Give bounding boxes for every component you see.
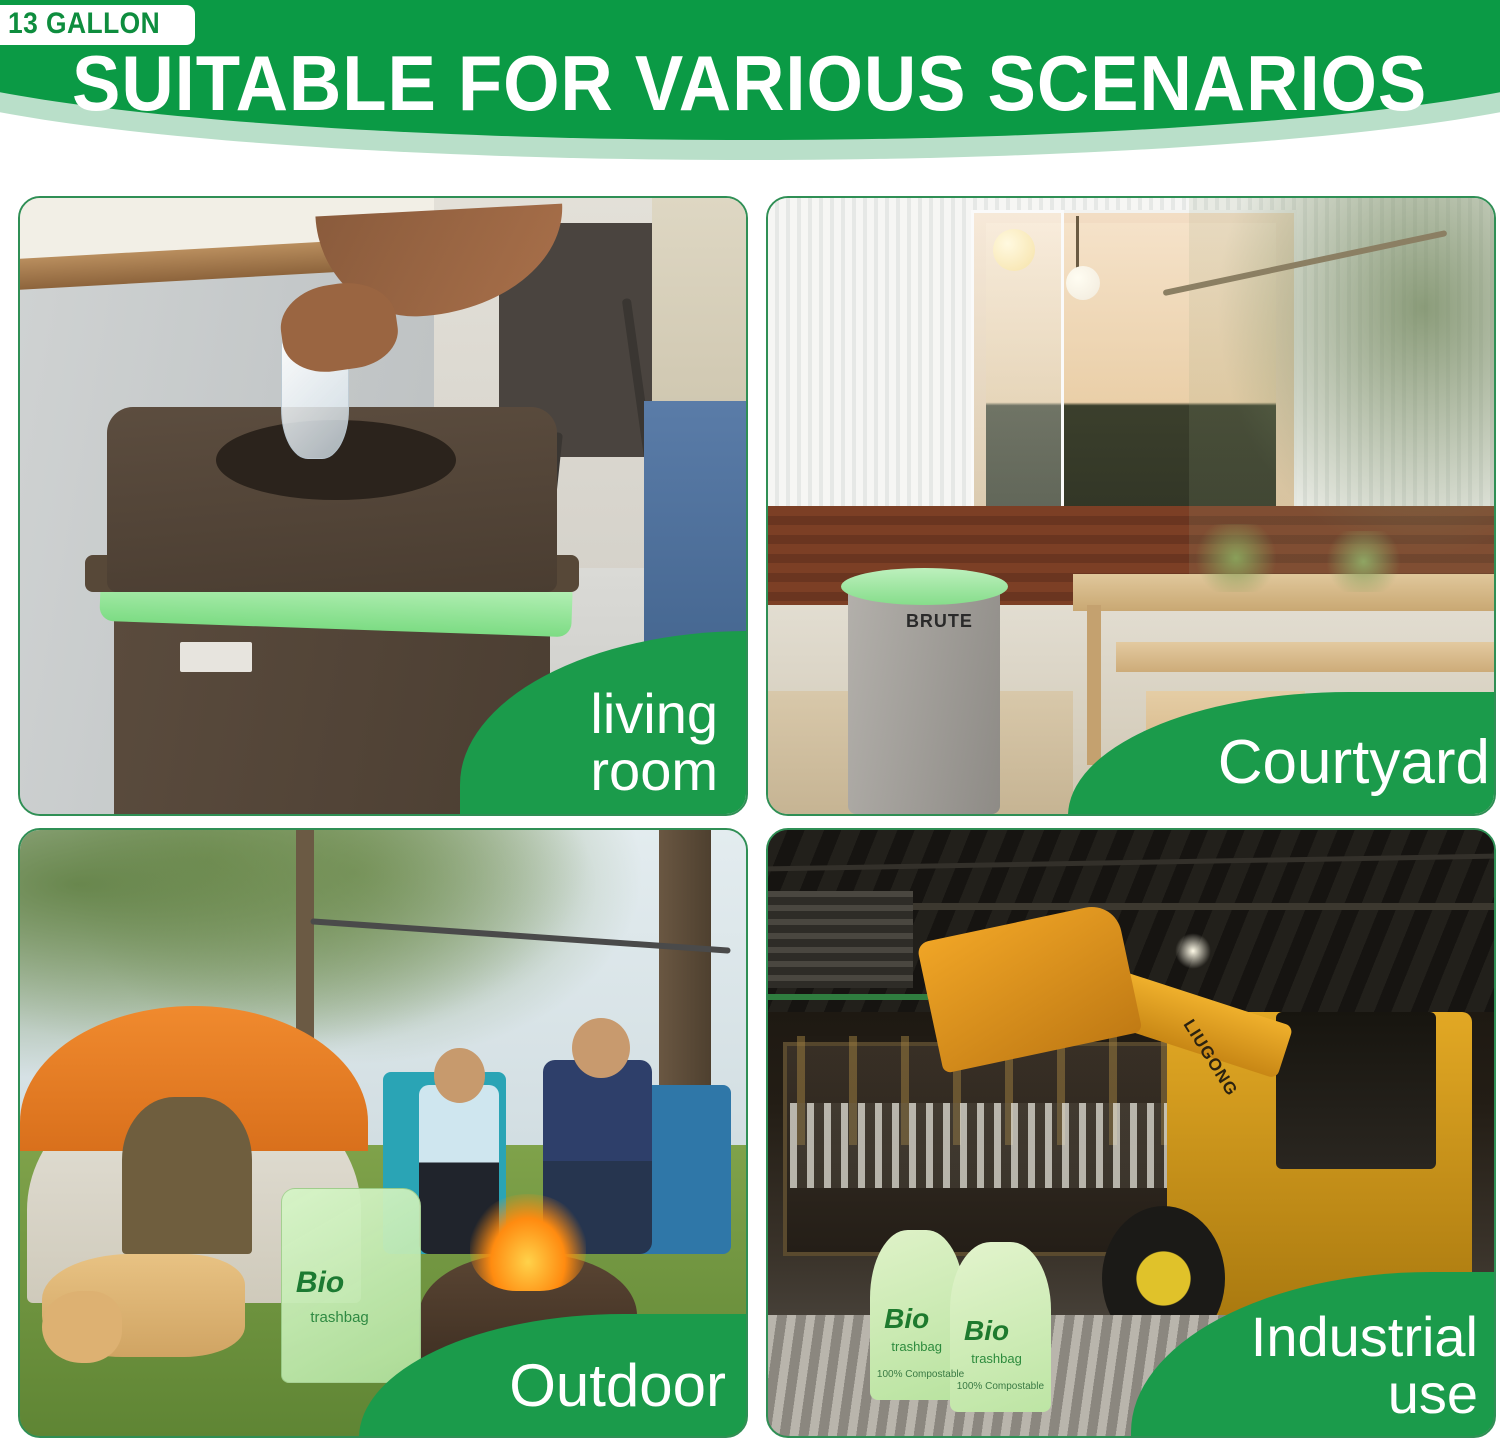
bio-brand-subtitle: trashbag — [971, 1351, 1022, 1366]
green-pipe — [768, 994, 928, 1000]
scenario-panel-outdoor[interactable]: Bio trashbag Outdoor — [18, 828, 748, 1438]
dog-head — [42, 1291, 122, 1364]
bio-brand-label: Bio — [296, 1266, 344, 1300]
pendant-lamp — [993, 229, 1035, 271]
child-head — [434, 1048, 485, 1103]
person-shirt — [652, 198, 746, 420]
bio-brand-subtitle: trashbag — [310, 1309, 368, 1326]
bio-compostable-claim: 100% Compostable — [877, 1369, 964, 1380]
compostable-bag-liner — [841, 568, 1008, 605]
table-plant — [1320, 531, 1407, 593]
scenario-panel-industrial-use[interactable]: LIUGONG Bio trashbag 100% Compostable Bi… — [766, 828, 1496, 1438]
bio-brand-label: Bio — [964, 1315, 1009, 1347]
tent-door — [122, 1097, 253, 1255]
pendant-lamp-cord — [1076, 216, 1079, 271]
header-banner: 13 GALLON SUITABLE FOR VARIOUS SCENARIOS — [0, 0, 1500, 185]
falling-waste — [790, 1103, 1197, 1188]
brute-brand-label: BRUTE — [906, 611, 973, 632]
bio-compostable-claim: 100% Compostable — [957, 1381, 1044, 1392]
adult-woman-head — [572, 1018, 630, 1079]
bio-brand-label: Bio — [884, 1303, 929, 1335]
capacity-badge: 13 GALLON — [0, 5, 195, 45]
page-title: SUITABLE FOR VARIOUS SCENARIOS — [0, 44, 1500, 122]
capacity-badge-label: 13 GALLON — [8, 9, 160, 39]
wall-pipes — [768, 891, 913, 988]
campfire-flame — [470, 1194, 586, 1291]
pendant-lamp — [1066, 266, 1100, 300]
ceiling-light — [1175, 933, 1211, 969]
loader-cab — [1276, 1012, 1436, 1170]
scenario-grid: living room BRUTE Courtyard — [18, 196, 1482, 1438]
bin-label-tag — [180, 642, 253, 673]
scenario-panel-courtyard[interactable]: BRUTE Courtyard — [766, 196, 1496, 816]
bio-brand-subtitle: trashbag — [891, 1339, 942, 1354]
table-plant — [1189, 524, 1283, 592]
picnic-table-leg — [1087, 605, 1101, 765]
page-title-text: SUITABLE FOR VARIOUS SCENARIOS — [72, 44, 1427, 122]
scenario-panel-living-room[interactable]: living room — [18, 196, 748, 816]
picnic-bench — [1116, 642, 1494, 673]
